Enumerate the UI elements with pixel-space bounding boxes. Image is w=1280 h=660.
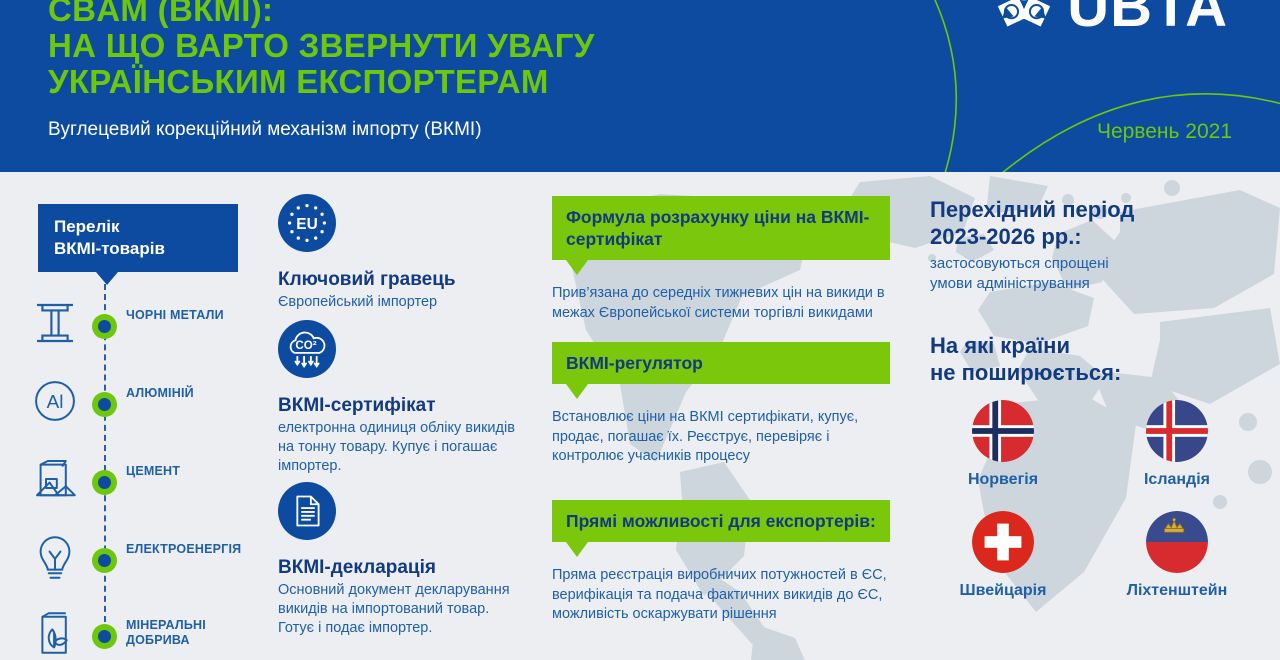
transition-and-exemptions-column: Перехідний період 2023-2026 рр.: застосо… <box>930 172 1280 660</box>
country-name: Ліхтенштейн <box>1104 582 1250 600</box>
page-header: CBAM (ВКМІ): НА ЩО ВАРТО ЗВЕРНУТИ УВАГУ … <box>0 0 1280 172</box>
publication-date: Червень 2021 <box>1097 120 1232 144</box>
header-subtitle: Вуглецевий корекційний механізм імпорту … <box>48 118 878 142</box>
transition-heading-line-2: 2023-2026 рр.: <box>930 223 1260 250</box>
exempt-countries-grid: Норвегія Ісландія <box>930 400 1270 600</box>
panel-banner-label: Прямі можливості для експортерів: <box>566 511 876 531</box>
panel-price-formula: Формула розрахунку ціни на ВКМІ-сертифік… <box>552 196 892 323</box>
transition-text-line-2: умови адміністрування <box>930 274 1260 294</box>
header-title-line-3: УКРАЇНСЬКИМ ЕКСПОРТЕРАМ <box>48 64 878 100</box>
country-name: Швейцарія <box>930 582 1076 600</box>
sidebar-heading-panel: Перелік ВКМІ-товарів <box>38 204 238 272</box>
sidebar-item-label: ЧОРНІ МЕТАЛИ <box>126 308 266 323</box>
norway-flag-icon <box>972 400 1034 462</box>
panel-banner-pointer <box>566 384 588 399</box>
cement-bag-icon <box>28 450 82 508</box>
sidebar-bullet-dot <box>92 470 117 495</box>
concept-title: Ключовий гравець <box>278 269 528 291</box>
panel-exporter-opportunities: Прямі можливості для експортерів: Пряма … <box>552 500 892 625</box>
country-name: Норвегія <box>930 471 1076 489</box>
transition-heading-line-1: Перехідний період <box>930 196 1260 223</box>
sidebar-heading-line-1: Перелік <box>54 216 238 238</box>
country-liechtenstein[interactable]: Ліхтенштейн <box>1104 511 1250 600</box>
transition-period-block: Перехідний період 2023-2026 рр.: застосо… <box>930 196 1260 294</box>
sidebar-item-electricity[interactable]: ЕЛЕКТРОЕНЕРГІЯ <box>0 528 270 592</box>
svg-text:EU: EU <box>296 216 317 233</box>
concept-title: ВКМІ-декларація <box>278 557 528 579</box>
sidebar-heading-line-2: ВКМІ-товарів <box>54 238 238 260</box>
sidebar-heading-pointer <box>96 272 118 285</box>
panel-body-text: Прив’язана до середніх тижневих цін на в… <box>552 284 892 323</box>
exempt-heading-line-2: не поширюється: <box>930 359 1260 386</box>
key-concepts-column: EU Ключовий гравець Європейський імпорте… <box>278 172 546 660</box>
concept-text: Основний документ декларування викидів н… <box>278 581 528 638</box>
document-icon <box>278 482 336 540</box>
panel-banner-label: ВКМІ-регулятор <box>566 353 703 373</box>
header-title-line-2: НА ЩО ВАРТО ЗВЕРНУТИ УВАГУ <box>48 28 878 64</box>
panel-banner-pointer <box>566 542 588 557</box>
transition-text-line-1: застосовуються спрощені <box>930 254 1260 274</box>
panel-banner: Формула розрахунку ціни на ВКМІ-сертифік… <box>552 196 890 260</box>
sidebar-item-label: ЕЛЕКТРОЕНЕРГІЯ <box>126 542 266 557</box>
concept-cbam-certificate: CO² ВКМІ-сертифікат електронна одиниця о… <box>278 320 528 476</box>
iceland-flag-icon <box>1146 400 1208 462</box>
ubta-logo[interactable]: UBTA <box>991 0 1228 40</box>
svg-text:CO²: CO² <box>295 339 316 352</box>
co2-cloud-icon: CO² <box>278 320 336 378</box>
sidebar-item-label: ЦЕМЕНТ <box>126 464 266 479</box>
eu-flag-circle-icon: EU <box>278 194 336 252</box>
panel-banner-label: Формула розрахунку ціни на ВКМІ-сертифік… <box>566 207 869 249</box>
lightbulb-icon <box>28 528 82 586</box>
ubta-logo-text: UBTA <box>1067 0 1228 36</box>
sidebar-item-aluminium[interactable]: Al АЛЮМІНІЙ <box>0 372 270 436</box>
liechtenstein-flag-icon <box>1146 511 1208 573</box>
mechanism-panels-column: Формула розрахунку ціни на ВКМІ-сертифік… <box>552 172 902 660</box>
country-iceland[interactable]: Ісландія <box>1104 400 1250 489</box>
panel-cbam-regulator: ВКМІ-регулятор Встановлює ціни на ВКМІ с… <box>552 342 892 467</box>
sidebar-item-ferrous-metals[interactable]: ЧОРНІ МЕТАЛИ <box>0 294 270 358</box>
sidebar-item-mineral-fertilizers[interactable]: МІНЕРАЛЬНІ ДОБРИВА <box>0 604 270 660</box>
exempt-countries-heading: На які країни не поширюється: <box>930 332 1260 386</box>
i-beam-icon <box>28 294 82 352</box>
sidebar-item-label: МІНЕРАЛЬНІ ДОБРИВА <box>126 618 266 648</box>
switzerland-flag-icon <box>972 511 1034 573</box>
concept-text: Європейський імпортер <box>278 293 528 312</box>
sidebar-item-label: АЛЮМІНІЙ <box>126 386 266 401</box>
sidebar-bullet-dot <box>92 624 117 649</box>
concept-cbam-declaration: ВКМІ-декларація Основний документ деклар… <box>278 482 528 638</box>
sidebar-bullet-dot <box>92 314 117 339</box>
panel-banner: Прямі можливості для експортерів: <box>552 500 890 542</box>
fertilizer-bag-icon <box>28 604 82 660</box>
sidebar-bullet-dot <box>92 392 117 417</box>
exempt-heading-line-1: На які країни <box>930 332 1260 359</box>
panel-body-text: Пряма реєстрація виробничих потужностей … <box>552 566 892 625</box>
header-title-line-1: CBAM (ВКМІ): <box>48 0 878 28</box>
panel-body-text: Встановлює ціни на ВКМІ сертифікати, куп… <box>552 408 892 467</box>
aluminium-icon: Al <box>28 372 82 430</box>
country-norway[interactable]: Норвегія <box>930 400 1076 489</box>
trefoil-logo-icon <box>991 0 1057 40</box>
panel-banner: ВКМІ-регулятор <box>552 342 890 384</box>
sidebar-bullet-dot <box>92 548 117 573</box>
header-title-group: CBAM (ВКМІ): НА ЩО ВАРТО ЗВЕРНУТИ УВАГУ … <box>48 0 878 142</box>
country-switzerland[interactable]: Швейцарія <box>930 511 1076 600</box>
country-name: Ісландія <box>1104 471 1250 489</box>
concept-title: ВКМІ-сертифікат <box>278 395 528 417</box>
panel-banner-pointer <box>566 260 588 275</box>
concept-key-player: EU Ключовий гравець Європейський імпорте… <box>278 194 528 312</box>
svg-text:Al: Al <box>47 392 64 413</box>
cbam-goods-sidebar: Перелік ВКМІ-товарів ЧОРНІ МЕТАЛИ Al АЛЮ… <box>0 172 270 660</box>
infographic-body: Перелік ВКМІ-товарів ЧОРНІ МЕТАЛИ Al АЛЮ… <box>0 172 1280 660</box>
concept-text: електронна одиниця обліку викидів на тон… <box>278 419 528 476</box>
sidebar-item-cement[interactable]: ЦЕМЕНТ <box>0 450 270 514</box>
